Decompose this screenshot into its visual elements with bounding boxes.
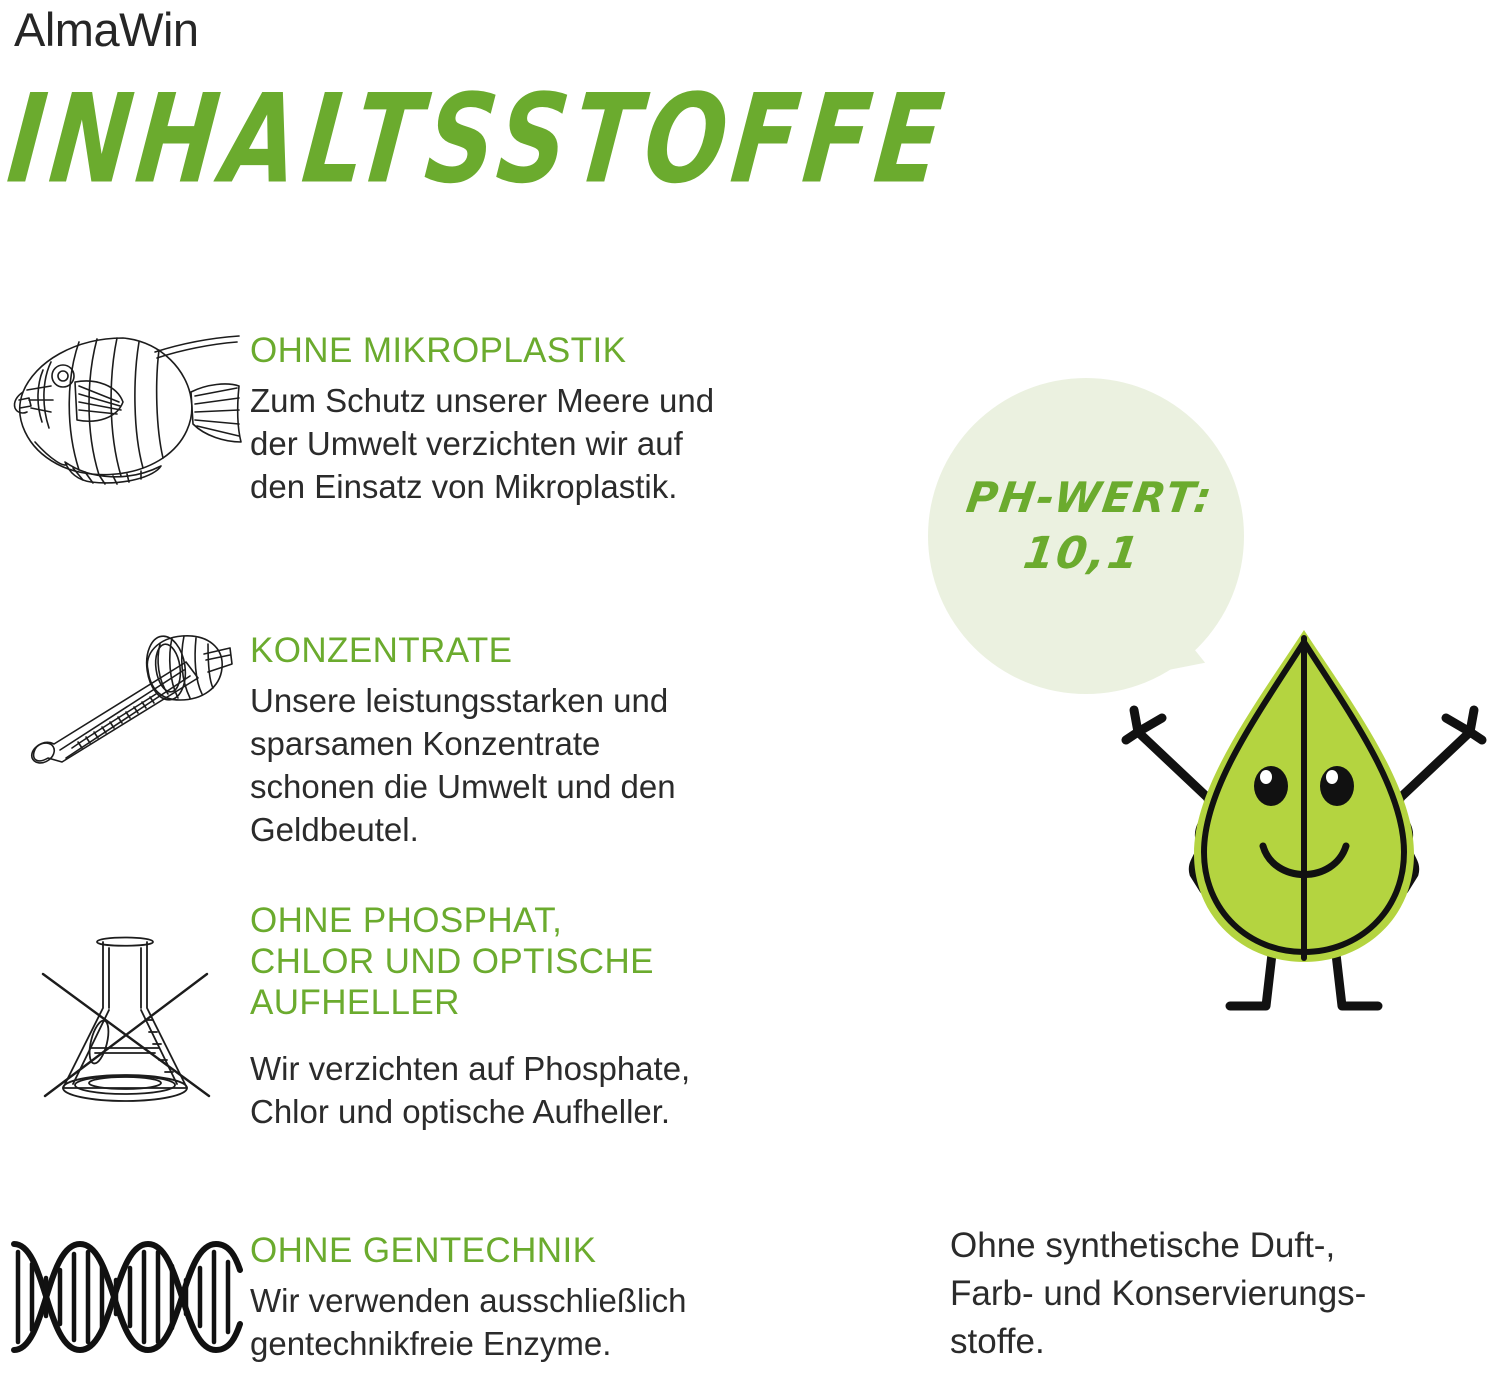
feature-text-block: OHNE MIKROPLASTIK Zum Schutz unserer Mee… [250, 330, 780, 508]
ph-value-text: PH-WERT: 10,1 [920, 470, 1252, 582]
no-synthetic-additives-note: Ohne synthetische Duft-, Farb- und Konse… [950, 1222, 1490, 1366]
feature-body: Wir verwenden ausschließlich gentechnikf… [250, 1279, 780, 1365]
feature-ohne-phosphat: OHNE PHOSPHAT, CHLOR UND OPTISCHE AUFHEL… [0, 900, 780, 1133]
feature-ohne-gentechnik: OHNE GENTECHNIK Wir verwenden ausschließ… [0, 1230, 780, 1365]
flask-crossed-out-icon [0, 900, 250, 1120]
inhaltsstoffe-infographic: AlmaWin INHALTSSTOFFE [0, 0, 1500, 1380]
feature-konzentrate: KONZENTRATE Unsere leistungsstarken und … [0, 630, 780, 851]
feature-ohne-mikroplastik: OHNE MIKROPLASTIK Zum Schutz unserer Mee… [0, 330, 780, 508]
feature-body: Wir verzichten auf Phosphate, Chlor und … [250, 1047, 780, 1133]
ph-label: PH-WERT: [928, 470, 1252, 526]
feature-title: KONZENTRATE [250, 630, 780, 671]
brand-logo: AlmaWin [14, 2, 199, 57]
feature-body: Unsere leistungsstarken und sparsamen Ko… [250, 679, 780, 851]
feature-title: OHNE PHOSPHAT, CHLOR UND OPTISCHE AUFHEL… [250, 900, 780, 1023]
feature-text-block: OHNE PHOSPHAT, CHLOR UND OPTISCHE AUFHEL… [250, 900, 780, 1133]
feature-text-block: OHNE GENTECHNIK Wir verwenden ausschließ… [250, 1230, 780, 1365]
page-title: INHALTSSTOFFE [3, 78, 954, 201]
dna-helix-icon [0, 1230, 250, 1365]
smiling-leaf-mascot [1108, 618, 1500, 1048]
feature-text-block: KONZENTRATE Unsere leistungsstarken und … [250, 630, 780, 851]
feature-title: OHNE GENTECHNIK [250, 1230, 780, 1271]
ph-number: 10,1 [920, 526, 1244, 582]
feature-title: OHNE MIKROPLASTIK [250, 330, 780, 371]
fish-icon [0, 330, 250, 485]
feature-body: Zum Schutz unserer Meere und der Umwelt … [250, 379, 780, 508]
pipette-icon [0, 630, 250, 780]
